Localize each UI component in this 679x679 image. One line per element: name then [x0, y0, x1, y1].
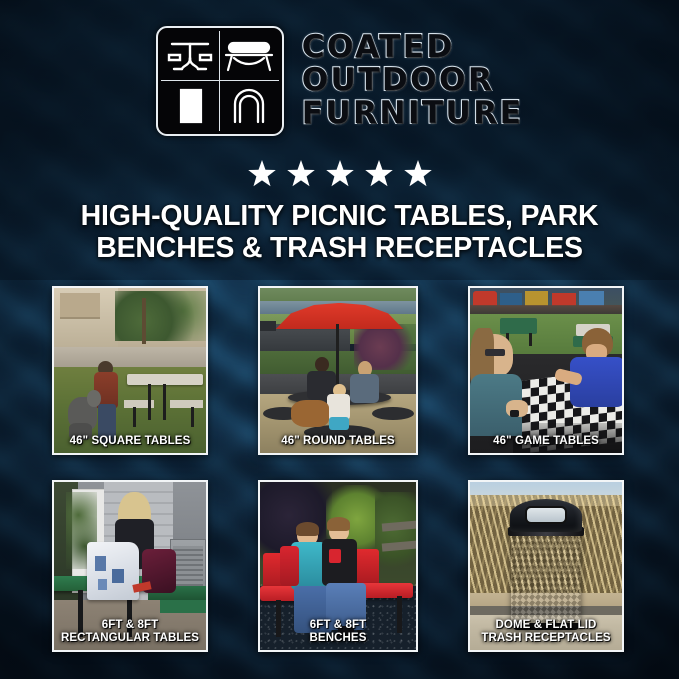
star-icon [364, 160, 394, 189]
star-icon [403, 160, 433, 189]
brand-logo: COATED OUTDOOR FURNITURE [0, 26, 679, 136]
bench-icon [220, 31, 279, 81]
product-label-line-1: 46" ROUND TABLES [262, 435, 414, 448]
product-label-line-2: BENCHES [262, 632, 414, 645]
product-tile-round-tables[interactable]: 46" ROUND TABLES [258, 286, 418, 455]
trash-receptacle-icon [161, 81, 220, 131]
logo-line-3: FURNITURE [302, 98, 524, 130]
product-label-square-tables: 46" SQUARE TABLES [56, 435, 204, 448]
headline-line-1: HIGH-QUALITY PICNIC TABLES, PARK [30, 200, 649, 232]
logo-wordmark: COATED OUTDOOR FURNITURE [302, 32, 524, 130]
page-title: HIGH-QUALITY PICNIC TABLES, PARK BENCHES… [30, 200, 649, 264]
product-label-rectangular-tables: 6FT & 8FT RECTANGULAR TABLES [56, 619, 204, 645]
star-icon [325, 160, 355, 189]
star-rating [0, 160, 679, 189]
star-icon [247, 160, 277, 189]
bike-rack-icon [220, 81, 279, 131]
logo-line-1: COATED [302, 32, 455, 64]
product-label-line-1: 6FT & 8FT [262, 619, 414, 632]
product-label-line-1: 6FT & 8FT [56, 619, 204, 632]
product-tile-square-tables[interactable]: 46" SQUARE TABLES [52, 286, 208, 455]
product-tile-game-tables[interactable]: 46" GAME TABLES [468, 286, 624, 455]
logo-line-2: OUTDOOR [302, 65, 494, 97]
logo-mark [156, 26, 284, 136]
product-label-line-1: 46" SQUARE TABLES [56, 435, 204, 448]
product-label-trash-receptacles: DOME & FLAT LID TRASH RECEPTACLES [472, 619, 620, 645]
promo-banner: COATED OUTDOOR FURNITURE HIGH-QUALITY PI… [0, 0, 679, 679]
product-grid: 46" SQUARE TABLES [52, 286, 624, 652]
product-label-round-tables: 46" ROUND TABLES [262, 435, 414, 448]
headline-line-2: BENCHES & TRASH RECEPTACLES [30, 232, 649, 264]
product-image-game-tables [470, 288, 622, 453]
product-image-square-tables [54, 288, 206, 453]
picnic-table-icon [161, 31, 220, 81]
product-label-line-1: 46" GAME TABLES [472, 435, 620, 448]
product-image-round-tables [260, 288, 416, 453]
product-tile-benches[interactable]: 6FT & 8FT BENCHES [258, 480, 418, 652]
product-label-line-1: DOME & FLAT LID [472, 619, 620, 632]
product-label-game-tables: 46" GAME TABLES [472, 435, 620, 448]
product-label-line-2: TRASH RECEPTACLES [472, 632, 620, 645]
product-tile-trash-receptacles[interactable]: DOME & FLAT LID TRASH RECEPTACLES [468, 480, 624, 652]
product-label-benches: 6FT & 8FT BENCHES [262, 619, 414, 645]
product-label-line-2: RECTANGULAR TABLES [56, 632, 204, 645]
product-tile-rectangular-tables[interactable]: 6FT & 8FT RECTANGULAR TABLES [52, 480, 208, 652]
star-icon [286, 160, 316, 189]
